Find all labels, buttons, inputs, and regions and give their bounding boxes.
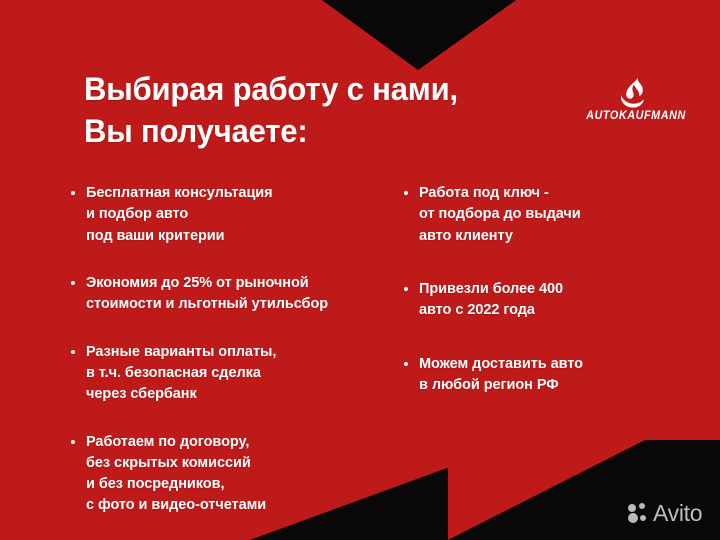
bullet-dot-icon	[71, 440, 75, 444]
benefit-line: в любой регион РФ	[419, 375, 703, 396]
benefit-line: под ваши критерии	[86, 226, 400, 247]
promo-poster: AUTOKAUFMANN Выбирая работу с нами, Вы п…	[0, 0, 720, 540]
avito-dots-icon	[628, 503, 650, 523]
benefit-line: Привезли более 400	[419, 279, 703, 300]
avito-watermark: Avito	[628, 500, 702, 526]
brand-logo: AUTOKAUFMANN	[576, 76, 696, 123]
benefit-line: и подбор авто	[86, 204, 400, 225]
flame-swoosh-icon	[619, 76, 653, 108]
benefit-line: авто клиенту	[419, 226, 703, 247]
avito-wordmark: Avito	[653, 502, 702, 525]
bullet-dot-icon	[404, 287, 408, 291]
benefit-item: Можем доставить автов любой регион РФ	[403, 354, 703, 397]
benefit-line: Разные варианты оплаты,	[86, 342, 400, 363]
benefit-line: Можем доставить авто	[419, 354, 703, 375]
bullet-dot-icon	[71, 281, 75, 285]
benefit-item: Разные варианты оплаты,в т.ч. безопасная…	[70, 342, 400, 406]
benefit-item: Привезли более 400авто с 2022 года	[403, 279, 703, 322]
benefit-item: Работа под ключ -от подбора до выдачиавт…	[403, 183, 703, 247]
benefits-right-column: Работа под ключ -от подбора до выдачиавт…	[403, 183, 703, 428]
benefit-line: Работаем по договору,	[86, 432, 400, 453]
benefits-section: Бесплатная консультацияи подбор автопод …	[0, 183, 720, 503]
benefit-line: стоимости и льготный утильсбор	[86, 294, 400, 315]
headline-line-2: Вы получаете:	[84, 111, 540, 153]
bullet-dot-icon	[71, 350, 75, 354]
benefit-item: Бесплатная консультацияи подбор автопод …	[70, 183, 400, 247]
benefit-item: Экономия до 25% от рыночнойстоимости и л…	[70, 273, 400, 316]
bullet-dot-icon	[404, 362, 408, 366]
benefit-line: от подбора до выдачи	[419, 204, 703, 225]
benefit-line: с фото и видео-отчетами	[86, 495, 400, 516]
benefit-line: и без посредников,	[86, 474, 400, 495]
bullet-dot-icon	[71, 191, 75, 195]
benefit-item: Работаем по договору,без скрытых комисси…	[70, 432, 400, 517]
logo-wordmark: AUTOKAUFMANN	[580, 111, 693, 123]
benefits-left-column: Бесплатная консультацияи подбор автопод …	[70, 183, 400, 540]
benefit-line: в т.ч. безопасная сделка	[86, 363, 400, 384]
benefit-line: через сбербанк	[86, 384, 400, 405]
benefit-line: без скрытых комиссий	[86, 453, 400, 474]
bullet-dot-icon	[404, 191, 408, 195]
benefit-line: Бесплатная консультация	[86, 183, 400, 204]
benefit-line: Экономия до 25% от рыночной	[86, 273, 400, 294]
benefit-line: Работа под ключ -	[419, 183, 703, 204]
headline-line-1: Выбирая работу с нами,	[84, 69, 540, 111]
page-title: Выбирая работу с нами, Вы получаете:	[84, 69, 540, 152]
benefit-line: авто с 2022 года	[419, 300, 703, 321]
